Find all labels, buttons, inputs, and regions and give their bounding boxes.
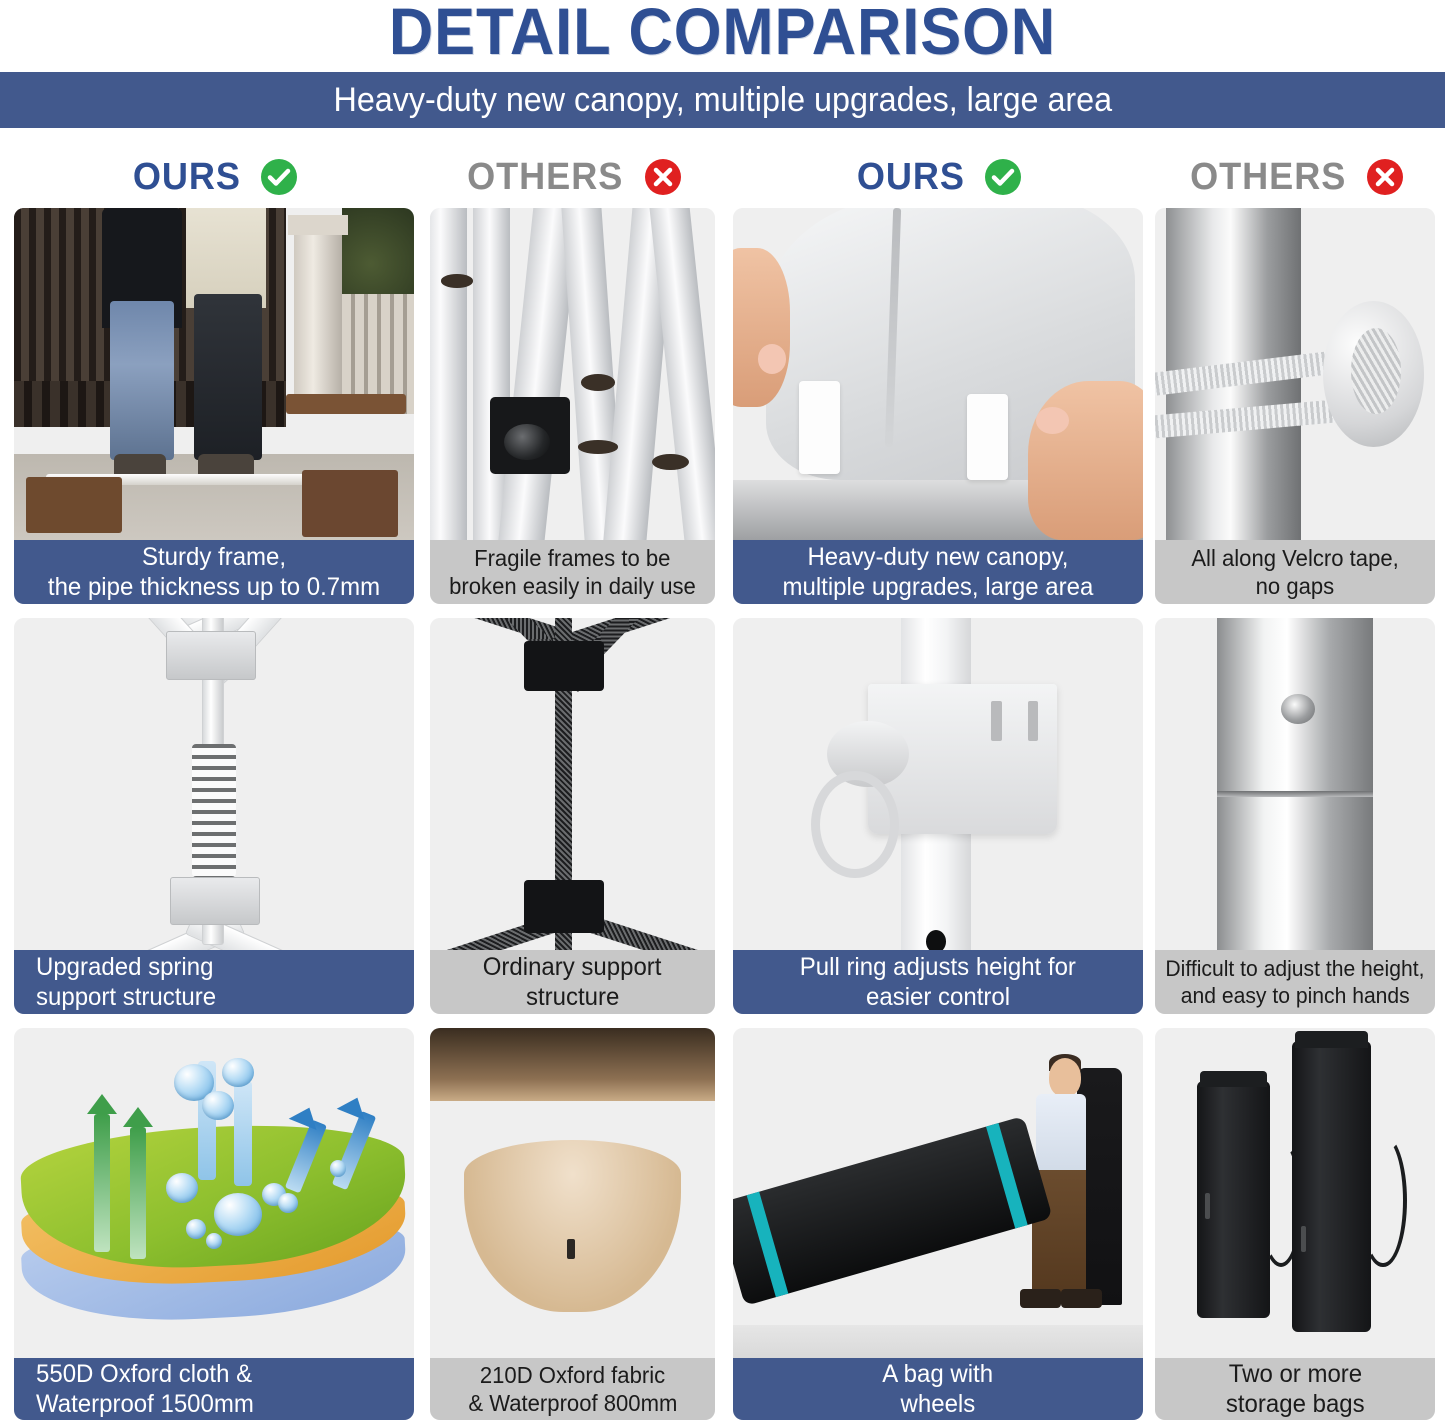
comparison-card-velcro-tape: All along Velcro tape, no gaps (1155, 208, 1435, 604)
comparison-card-upgraded-spring: Upgraded spring support structure (14, 618, 414, 1014)
caption-line: easier control (866, 982, 1010, 1012)
caption-bar: Pull ring adjusts height for easier cont… (733, 950, 1143, 1014)
subtitle-banner: Heavy-duty new canopy, multiple upgrades… (0, 72, 1445, 128)
column-header-ours-left: OURS (14, 152, 414, 202)
comparison-card-fragile-frames: Fragile frames to be broken easily in da… (430, 208, 715, 604)
x-circle-icon (1366, 158, 1404, 196)
photo-white-truss-frame-with-metal-spring-on-center-post (14, 618, 414, 950)
caption-line: 210D Oxford fabric (480, 1361, 665, 1389)
photo-two-black-storage-bags-with-shoulder-handles (1155, 1028, 1435, 1358)
caption-line: All along Velcro tape, (1191, 544, 1398, 572)
x-circle-icon (644, 158, 682, 196)
caption-bar: Difficult to adjust the height, and easy… (1155, 950, 1435, 1014)
caption-bar: A bag with wheels (733, 1358, 1143, 1420)
comparison-card-ordinary-support: Ordinary support structure (430, 618, 715, 1014)
caption-line: storage bags (1226, 1389, 1365, 1419)
photo-man-pulling-black-rolling-canopy-bag-with-teal-straps (733, 1028, 1143, 1358)
caption-line: Ordinary support (483, 952, 662, 982)
column-label: OURS (857, 155, 965, 199)
photo-white-leg-with-pull-ring-height-adjuster (733, 618, 1143, 950)
caption-line: structure (526, 982, 619, 1012)
caption-bar: Upgraded spring support structure (14, 950, 414, 1014)
caption-line: multiple upgrades, large area (783, 572, 1094, 602)
caption-line: Waterproof 1500mm (36, 1389, 254, 1419)
caption-line: broken easily in daily use (449, 572, 696, 600)
comparison-card-550d-oxford: 550D Oxford cloth & Waterproof 1500mm (14, 1028, 414, 1420)
photo-chipped-white-frame-tubes-with-black-joint (430, 208, 715, 540)
check-circle-icon (260, 158, 298, 196)
caption-line: Pull ring adjusts height for (800, 952, 1076, 982)
caption-bar: Heavy-duty new canopy, multiple upgrades… (733, 540, 1143, 604)
photo-dark-speckled-truss-frame-under-gray-canopy (430, 618, 715, 950)
comparison-card-pull-ring: Pull ring adjusts height for easier cont… (733, 618, 1143, 1014)
comparison-card-bag-with-wheels: A bag with wheels (733, 1028, 1143, 1420)
caption-line: Heavy-duty new canopy, (807, 542, 1068, 572)
caption-line: and easy to pinch hands (1181, 982, 1410, 1009)
photo-metal-pole-with-elastic-cord-and-plastic-button (1155, 208, 1435, 540)
caption-bar: Ordinary support structure (430, 950, 715, 1014)
comparison-card-sturdy-frame: Sturdy frame, the pipe thickness up to 0… (14, 208, 414, 604)
caption-line: Fragile frames to be (474, 544, 670, 572)
photo-sagging-beige-canopy-fabric-pooling-water (430, 1028, 715, 1358)
page-title: DETAIL COMPARISON (51, 0, 1395, 68)
caption-line: Sturdy frame, (142, 542, 286, 572)
column-label: OTHERS (467, 155, 623, 199)
caption-bar: Two or more storage bags (1155, 1358, 1435, 1420)
caption-bar: All along Velcro tape, no gaps (1155, 540, 1435, 604)
caption-line: support structure (36, 982, 216, 1012)
photo-two-people-standing-on-canopy-pipe-between-stools (14, 208, 414, 540)
comparison-card-storage-bags: Two or more storage bags (1155, 1028, 1435, 1420)
caption-line: & Waterproof 800mm (468, 1389, 677, 1417)
column-header-others-left: OTHERS (430, 152, 715, 202)
column-label: OTHERS (1190, 155, 1346, 199)
column-label: OURS (133, 155, 241, 199)
detail-comparison-infographic: DETAIL COMPARISON Heavy-duty new canopy,… (0, 0, 1445, 1425)
caption-line: 550D Oxford cloth & (36, 1359, 252, 1389)
column-header-others-right: OTHERS (1155, 152, 1435, 202)
page-subtitle: Heavy-duty new canopy, multiple upgrades… (333, 80, 1112, 120)
caption-bar: 210D Oxford fabric & Waterproof 800mm (430, 1358, 715, 1420)
caption-line: Difficult to adjust the height, (1165, 955, 1424, 982)
caption-line: the pipe thickness up to 0.7mm (48, 572, 380, 602)
check-circle-icon (984, 158, 1022, 196)
caption-bar: Fragile frames to be broken easily in da… (430, 540, 715, 604)
caption-line: no gaps (1256, 572, 1335, 600)
column-header-ours-right: OURS (733, 152, 1143, 202)
caption-bar: 550D Oxford cloth & Waterproof 1500mm (14, 1358, 414, 1420)
photo-three-layer-waterproof-fabric-diagram-with-droplets-and-arrows (14, 1028, 414, 1358)
comparison-card-210d-oxford: 210D Oxford fabric & Waterproof 800mm (430, 1028, 715, 1420)
caption-line: wheels (901, 1389, 976, 1419)
caption-line: Upgraded spring (36, 952, 213, 982)
photo-hands-holding-white-canopy-fabric-with-velcro-straps (733, 208, 1143, 540)
photo-metal-pole-with-push-button-screw-adjuster (1155, 618, 1435, 950)
comparison-card-difficult-adjust: Difficult to adjust the height, and easy… (1155, 618, 1435, 1014)
caption-bar: Sturdy frame, the pipe thickness up to 0… (14, 540, 414, 604)
comparison-card-heavy-duty-canopy: Heavy-duty new canopy, multiple upgrades… (733, 208, 1143, 604)
caption-line: A bag with (883, 1359, 994, 1389)
caption-line: Two or more (1228, 1359, 1361, 1389)
